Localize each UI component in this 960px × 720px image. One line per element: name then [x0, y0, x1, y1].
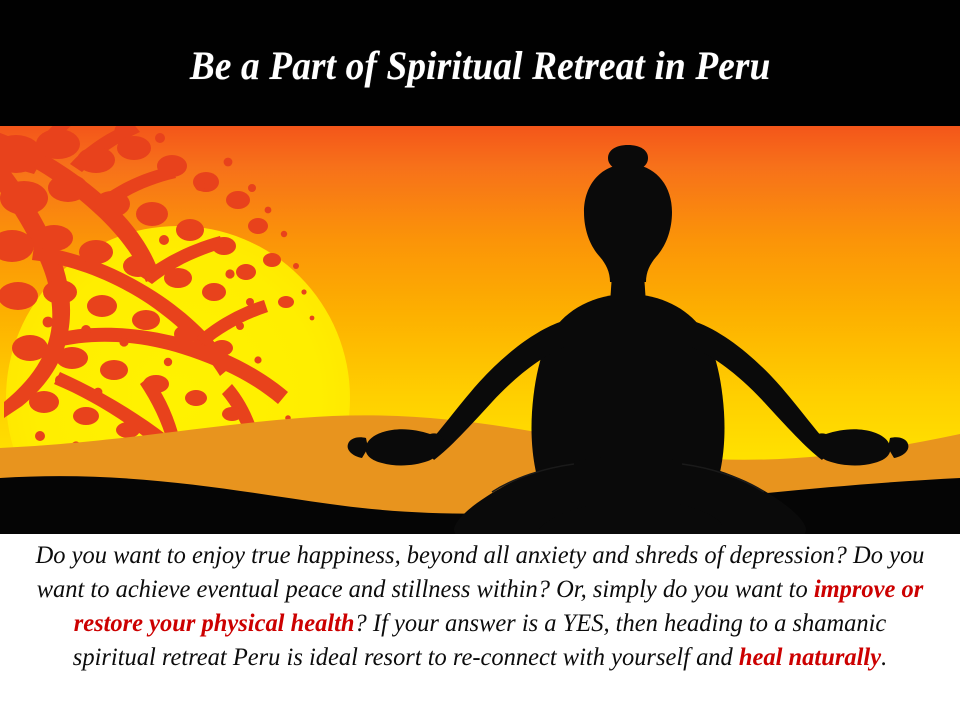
page-title: Be a Part of Spiritual Retreat in Peru	[190, 46, 771, 86]
caption-line-1: Do you want to enjoy true happiness, bey…	[36, 540, 883, 569]
caption-paragraph: Do you want to enjoy true happiness, bey…	[33, 538, 928, 674]
sunset-meditation-scene-icon	[0, 126, 960, 534]
caption-highlight-heal: heal naturally	[739, 642, 881, 671]
title-band: Be a Part of Spiritual Retreat in Peru	[0, 0, 960, 126]
slide-root: Be a Part of Spiritual Retreat in Peru	[0, 0, 960, 720]
caption-line-3-rest: ? If your answer is a YES, then heading …	[355, 608, 768, 637]
caption-line-5-rest: .	[881, 642, 887, 671]
caption-block: Do you want to enjoy true happiness, bey…	[0, 538, 960, 720]
hero-illustration	[0, 126, 960, 534]
